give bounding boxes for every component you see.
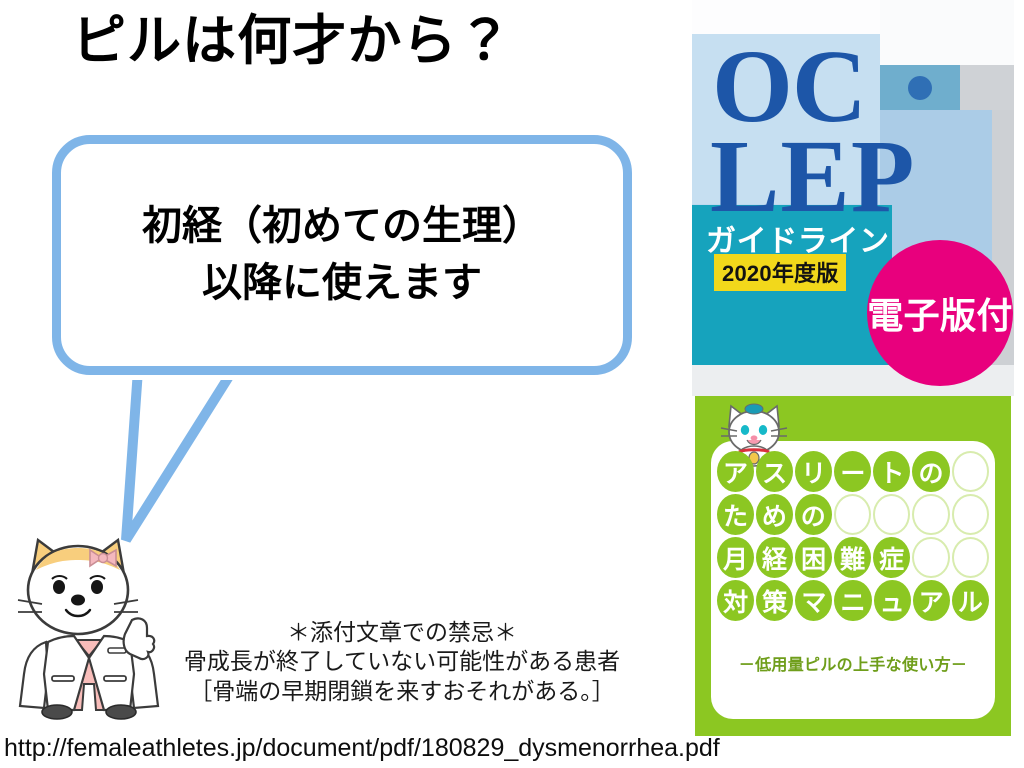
- slide-canvas: ピルは何才から？ 初経（初めての生理） 以降に使えます: [0, 0, 1024, 768]
- caution-note-line-3: ［骨端の早期閉鎖を来すおそれがある。］: [152, 677, 652, 706]
- manual-char: リ: [795, 451, 832, 492]
- manual-char: ア: [913, 580, 950, 621]
- caution-note-line-2: 骨成長が終了していない可能性がある患者: [152, 647, 652, 676]
- manual-char: 経: [756, 537, 793, 578]
- manual-char: ー: [834, 451, 871, 492]
- manual-char: 対: [717, 580, 754, 621]
- badge-label: 電子版付: [867, 287, 1012, 339]
- manual-char-empty: [952, 451, 989, 492]
- manual-char: ニ: [834, 580, 871, 621]
- cat-doctor-icon: [4, 524, 174, 724]
- manual-char: の: [912, 451, 949, 492]
- manual-title-row: 月 経 困 難 症: [717, 537, 989, 578]
- manual-char-empty: [912, 537, 949, 578]
- manual-char: 月: [717, 537, 754, 578]
- manual-char: 難: [834, 537, 871, 578]
- manual-char: 症: [873, 537, 910, 578]
- manual-title-row: ア ス リ ー ト の: [717, 451, 989, 492]
- manual-char: ト: [873, 451, 910, 492]
- manual-char-empty: [834, 494, 871, 535]
- speech-bubble-line-1: 初経（初めての生理）: [142, 198, 542, 255]
- book-title-line-2: LEP: [710, 128, 915, 227]
- manual-char-empty: [952, 494, 989, 535]
- speech-bubble-body: 初経（初めての生理） 以降に使えます: [52, 135, 632, 375]
- book-edition-box: 2020年度版: [714, 254, 846, 291]
- speech-bubble: 初経（初めての生理） 以降に使えます: [48, 130, 648, 560]
- cover-block-white: [880, 0, 1014, 65]
- cover-dot-icon: [908, 76, 932, 100]
- manual-char: ア: [717, 451, 754, 492]
- manual-char: ス: [756, 451, 793, 492]
- page-title: ピルは何才から？: [72, 12, 513, 71]
- book-cover-athlete-manual: ア ス リ ー ト の た め の 月 経 困 難: [695, 396, 1011, 736]
- manual-char-empty: [952, 537, 989, 578]
- source-url[interactable]: http://femaleathletes.jp/document/pdf/18…: [4, 734, 720, 763]
- cover-block-gray-square: [960, 65, 1014, 110]
- manual-char: ュ: [874, 580, 911, 621]
- manual-title-row: た め の: [717, 494, 989, 535]
- manual-char-empty: [912, 494, 949, 535]
- manual-subtitle: －低用量ピルの上手な使い方－: [711, 651, 995, 675]
- caution-note: ＊添付文章での禁忌＊ 骨成長が終了していない可能性がある患者 ［骨端の早期閉鎖を…: [152, 618, 652, 706]
- speech-bubble-line-2: 以降に使えます: [202, 255, 482, 312]
- manual-char: の: [795, 494, 832, 535]
- manual-char: 策: [756, 580, 793, 621]
- caution-note-line-1: ＊添付文章での禁忌＊: [152, 618, 652, 647]
- book-edition-label: 2020年度版: [722, 261, 838, 286]
- manual-char: た: [717, 494, 754, 535]
- manual-char: マ: [795, 580, 832, 621]
- manual-title-row: 対 策 マ ニ ュ ア ル: [717, 580, 989, 621]
- manual-char: 困: [795, 537, 832, 578]
- manual-char: め: [756, 494, 793, 535]
- cat-doctor-mascot: [4, 524, 174, 724]
- manual-char: ル: [952, 580, 989, 621]
- manual-title-grid: ア ス リ ー ト の た め の 月 経 困 難: [717, 451, 989, 623]
- badge-digital-edition: 電子版付: [867, 240, 1013, 386]
- manual-char-empty: [873, 494, 910, 535]
